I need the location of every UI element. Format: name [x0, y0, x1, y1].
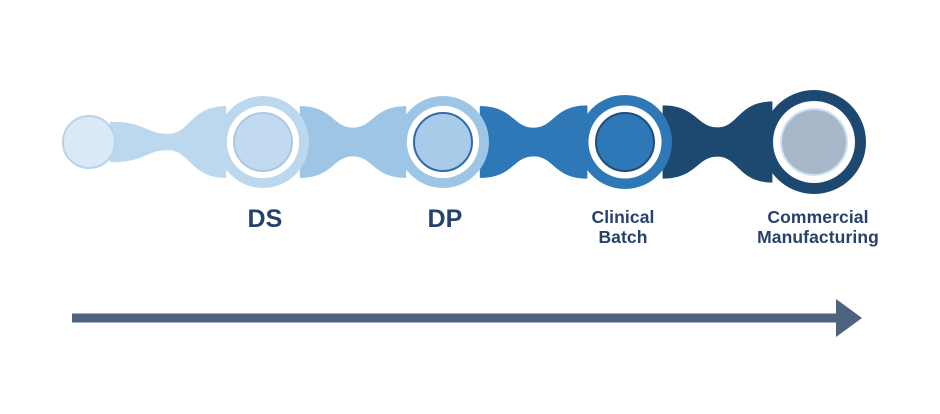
node-core-commercial [781, 109, 847, 175]
node-dp[interactable] [397, 96, 489, 188]
node-core-dp [414, 113, 472, 171]
diagram-canvas: DSDPClinical BatchCommercial Manufacturi… [0, 0, 940, 414]
connector-ds-to-dp [300, 106, 406, 178]
label-commercial: Commercial Manufacturing [678, 208, 940, 248]
connector-dp-to-clinical [480, 105, 588, 178]
connector-clinical-to-commercial [663, 101, 773, 182]
node-core-start [63, 116, 115, 168]
connector-start-to-ds [110, 106, 226, 178]
progression-arrow [72, 299, 862, 337]
arrow-shaft [72, 314, 836, 323]
node-clinical[interactable] [578, 95, 672, 189]
arrow-head-icon [836, 299, 862, 337]
node-start[interactable] [63, 116, 115, 168]
node-core-clinical [596, 113, 654, 171]
node-commercial[interactable] [762, 90, 866, 194]
node-ds[interactable] [217, 96, 309, 188]
node-core-ds [234, 113, 292, 171]
